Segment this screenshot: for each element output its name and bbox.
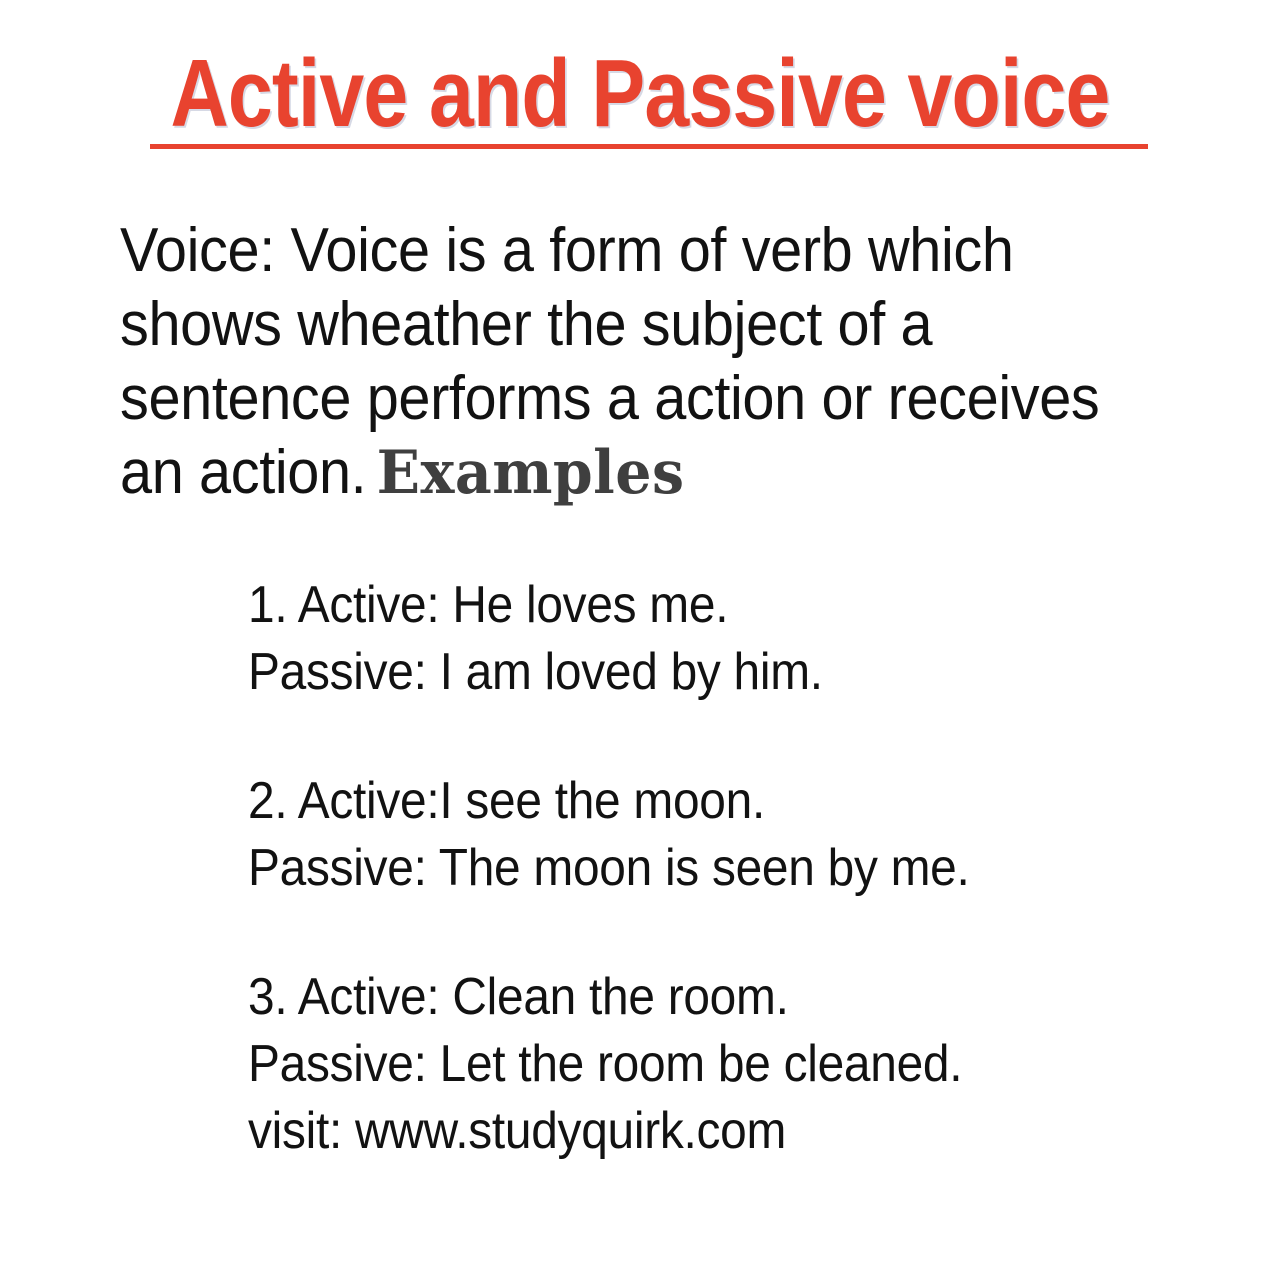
example-group-2: 2. Active:I see the moon. Passive: The m… — [248, 768, 1228, 902]
example-2-passive: Passive: The moon is seen by me. — [248, 835, 1150, 902]
page-title: Active and Passive voice — [170, 46, 1109, 142]
examples-list: 1. Active: He loves me. Passive: I am lo… — [248, 572, 1228, 1165]
intro-line-3: sentence performs a action or receives — [120, 362, 1176, 436]
intro-line-2: shows wheather the subject of a — [120, 288, 1176, 362]
example-3-passive: Passive: Let the room be cleaned. — [248, 1031, 1150, 1098]
title-block: Active and Passive voice — [0, 46, 1280, 142]
example-3-active: 3. Active: Clean the room. — [248, 964, 1150, 1031]
intro-paragraph: Voice: Voice is a form of verb which sho… — [120, 214, 1255, 510]
intro-line-4: an action.Examples — [120, 436, 1176, 510]
example-1-passive: Passive: I am loved by him. — [248, 639, 1150, 706]
example-group-1: 1. Active: He loves me. Passive: I am lo… — [248, 572, 1228, 706]
title-underline-rule — [150, 144, 1148, 149]
example-2-active: 2. Active:I see the moon. — [248, 768, 1150, 835]
poster-canvas: Active and Passive voice Voice: Voice is… — [0, 0, 1280, 1280]
visit-website-line: visit: www.studyquirk.com — [248, 1098, 1150, 1165]
example-group-3: 3. Active: Clean the room. Passive: Let … — [248, 964, 1228, 1165]
intro-line-1: Voice: Voice is a form of verb which — [120, 214, 1176, 288]
intro-line-4-text: an action. — [120, 438, 366, 507]
examples-heading: Examples — [363, 436, 684, 510]
example-1-active: 1. Active: He loves me. — [248, 572, 1150, 639]
